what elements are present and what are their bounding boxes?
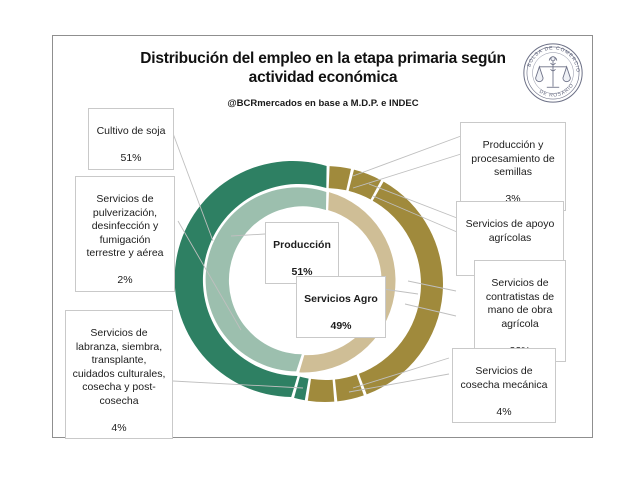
callout-label: Servicios de apoyo agrícolas <box>466 218 555 243</box>
callout-label: Cultivo de soja <box>97 125 166 137</box>
callout-cultivo-de-soja[interactable]: Cultivo de soja 51% <box>88 108 174 170</box>
callout-servicios-pulverizacion[interactable]: Servicios de pulverización, desinfección… <box>75 176 175 292</box>
slice-servicios-pulverizacion <box>294 377 309 401</box>
slice-servicios-cosecha-mecanica <box>335 375 364 402</box>
chart-frame: Distribución del empleo en la etapa prim… <box>52 35 593 438</box>
callout-value: 2% <box>117 274 132 286</box>
callout-label: Producción <box>273 239 331 251</box>
callout-label: Servicios de pulverización, desinfección… <box>86 193 163 259</box>
callout-label: Servicios de cosecha mecánica <box>461 365 548 390</box>
callout-label: Producción y procesamiento de semillas <box>471 139 554 178</box>
callout-servicios-cosecha-mecanica[interactable]: Servicios de cosecha mecánica 4% <box>452 348 556 423</box>
callout-center-produccion[interactable]: Producción 51% <box>265 222 339 284</box>
callout-servicios-contratistas[interactable]: Servicios de contratistas de mano de obr… <box>474 260 566 362</box>
slice-servicios-labranza <box>308 379 335 402</box>
callout-label: Servicios de contratistas de mano de obr… <box>486 277 554 329</box>
callout-servicios-labranza[interactable]: Servicios de labranza, siembra, transpla… <box>65 310 173 439</box>
callout-value: 51% <box>120 152 141 164</box>
callout-produccion-semillas[interactable]: Producción y procesamiento de semillas 3… <box>460 122 566 211</box>
callout-value: 49% <box>330 320 351 332</box>
callout-value: 4% <box>496 406 511 418</box>
callout-center-servicios-agro[interactable]: Servicios Agro 49% <box>296 276 386 338</box>
callout-value: 4% <box>111 422 126 434</box>
slice-produccion-semillas <box>329 166 351 190</box>
callout-label: Servicios de labranza, siembra, transpla… <box>73 327 166 406</box>
callout-label: Servicios Agro <box>304 293 378 305</box>
